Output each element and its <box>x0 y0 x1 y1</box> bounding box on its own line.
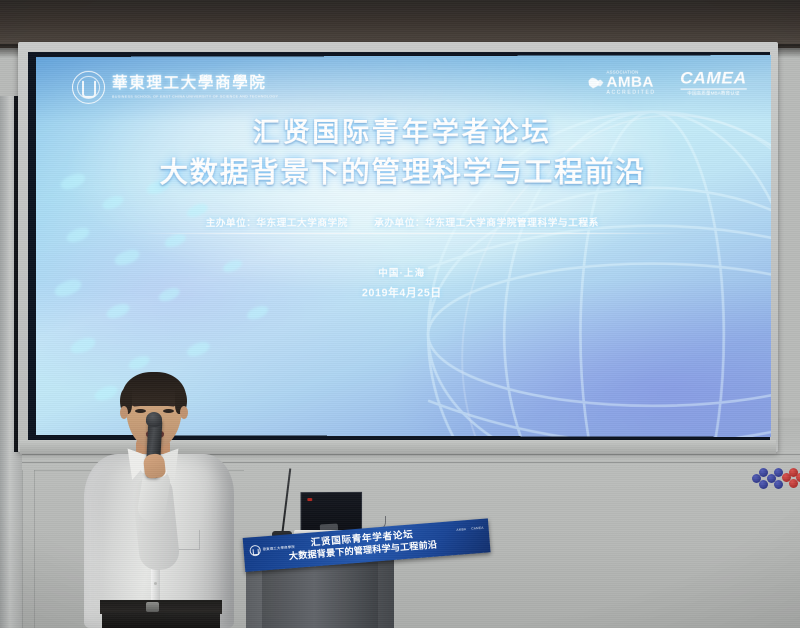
slide-date: 2019年4月25日 <box>36 285 771 301</box>
camea-rule <box>680 88 747 90</box>
amba-accredited-label: ACCREDITED <box>606 90 655 95</box>
eye-left <box>135 409 146 413</box>
trousers <box>102 612 220 628</box>
podium-camea-label: CAMEA <box>471 526 484 531</box>
wall-panel-groove <box>22 470 23 628</box>
co-host-organization: 承办单位：华东理工大学商学院管理科学与工程系 <box>374 215 599 229</box>
camea-logo: CAMEA 中国高质量MBA教育认证 <box>680 69 747 96</box>
podium-amba-label: AMBA <box>456 527 466 532</box>
slide-title-line-2: 大数据背景下的管理科学与工程前沿 <box>36 154 771 192</box>
amba-globe-icon <box>587 76 603 89</box>
podium-banner-accreditations: AMBA CAMEA <box>456 526 483 532</box>
amba-wordmark: AMBA <box>606 74 655 89</box>
eye-right <box>163 409 174 413</box>
slide-venue: 中国·上海 <box>36 265 771 279</box>
organizer-divider <box>138 233 683 234</box>
podium-front-face <box>262 560 378 628</box>
photograph-of-forum-opening: 華東理工大學商學院 BUSINESS SCHOOL OF EAST CHINA … <box>0 0 800 628</box>
belt-buckle <box>146 602 159 612</box>
university-name-en: BUSINESS SCHOOL OF EAST CHINA UNIVERSITY… <box>112 94 278 98</box>
ear-left <box>120 406 128 419</box>
microphone-head-icon <box>146 412 163 428</box>
slide-title-line-1: 汇贤国际青年学者论坛 <box>36 116 771 151</box>
camea-wordmark: CAMEA <box>680 69 747 86</box>
ear-right <box>180 406 188 419</box>
accreditation-logos: ASSOCIATION AMBA ACCREDITED CAMEA 中国高质量M… <box>587 69 747 96</box>
organizer-row: 主办单位：华东理工大学商学院 承办单位：华东理工大学商学院管理科学与工程系 <box>36 215 771 229</box>
speaker-person <box>78 372 246 628</box>
camea-subtitle: 中国高质量MBA教育认证 <box>680 91 747 96</box>
amba-logo: ASSOCIATION AMBA ACCREDITED <box>587 70 656 96</box>
laptop-brand-logo-icon <box>307 498 312 501</box>
podium-banner-title: 汇贤国际青年学者论坛 大数据背景下的管理科学与工程前沿 <box>287 527 438 563</box>
balloon-cluster <box>752 468 800 496</box>
university-seal-icon <box>72 71 105 104</box>
university-name-cn: 華東理工大學商學院 <box>112 76 278 93</box>
slide-title-block: 汇贤国际青年学者论坛 大数据背景下的管理科学与工程前沿 <box>36 116 771 192</box>
wall-panel-groove <box>34 470 35 628</box>
upper-wall-dark-panel <box>0 0 800 48</box>
university-seal-icon <box>249 545 261 557</box>
shirt-button <box>154 582 157 585</box>
university-logo: 華東理工大學商學院 BUSINESS SCHOOL OF EAST CHINA … <box>72 70 278 104</box>
hand-holding-microphone <box>143 453 166 479</box>
host-organization: 主办单位：华东理工大学商学院 <box>206 215 348 229</box>
slide-header-band: 華東理工大學商學院 BUSINESS SCHOOL OF EAST CHINA … <box>36 55 771 123</box>
